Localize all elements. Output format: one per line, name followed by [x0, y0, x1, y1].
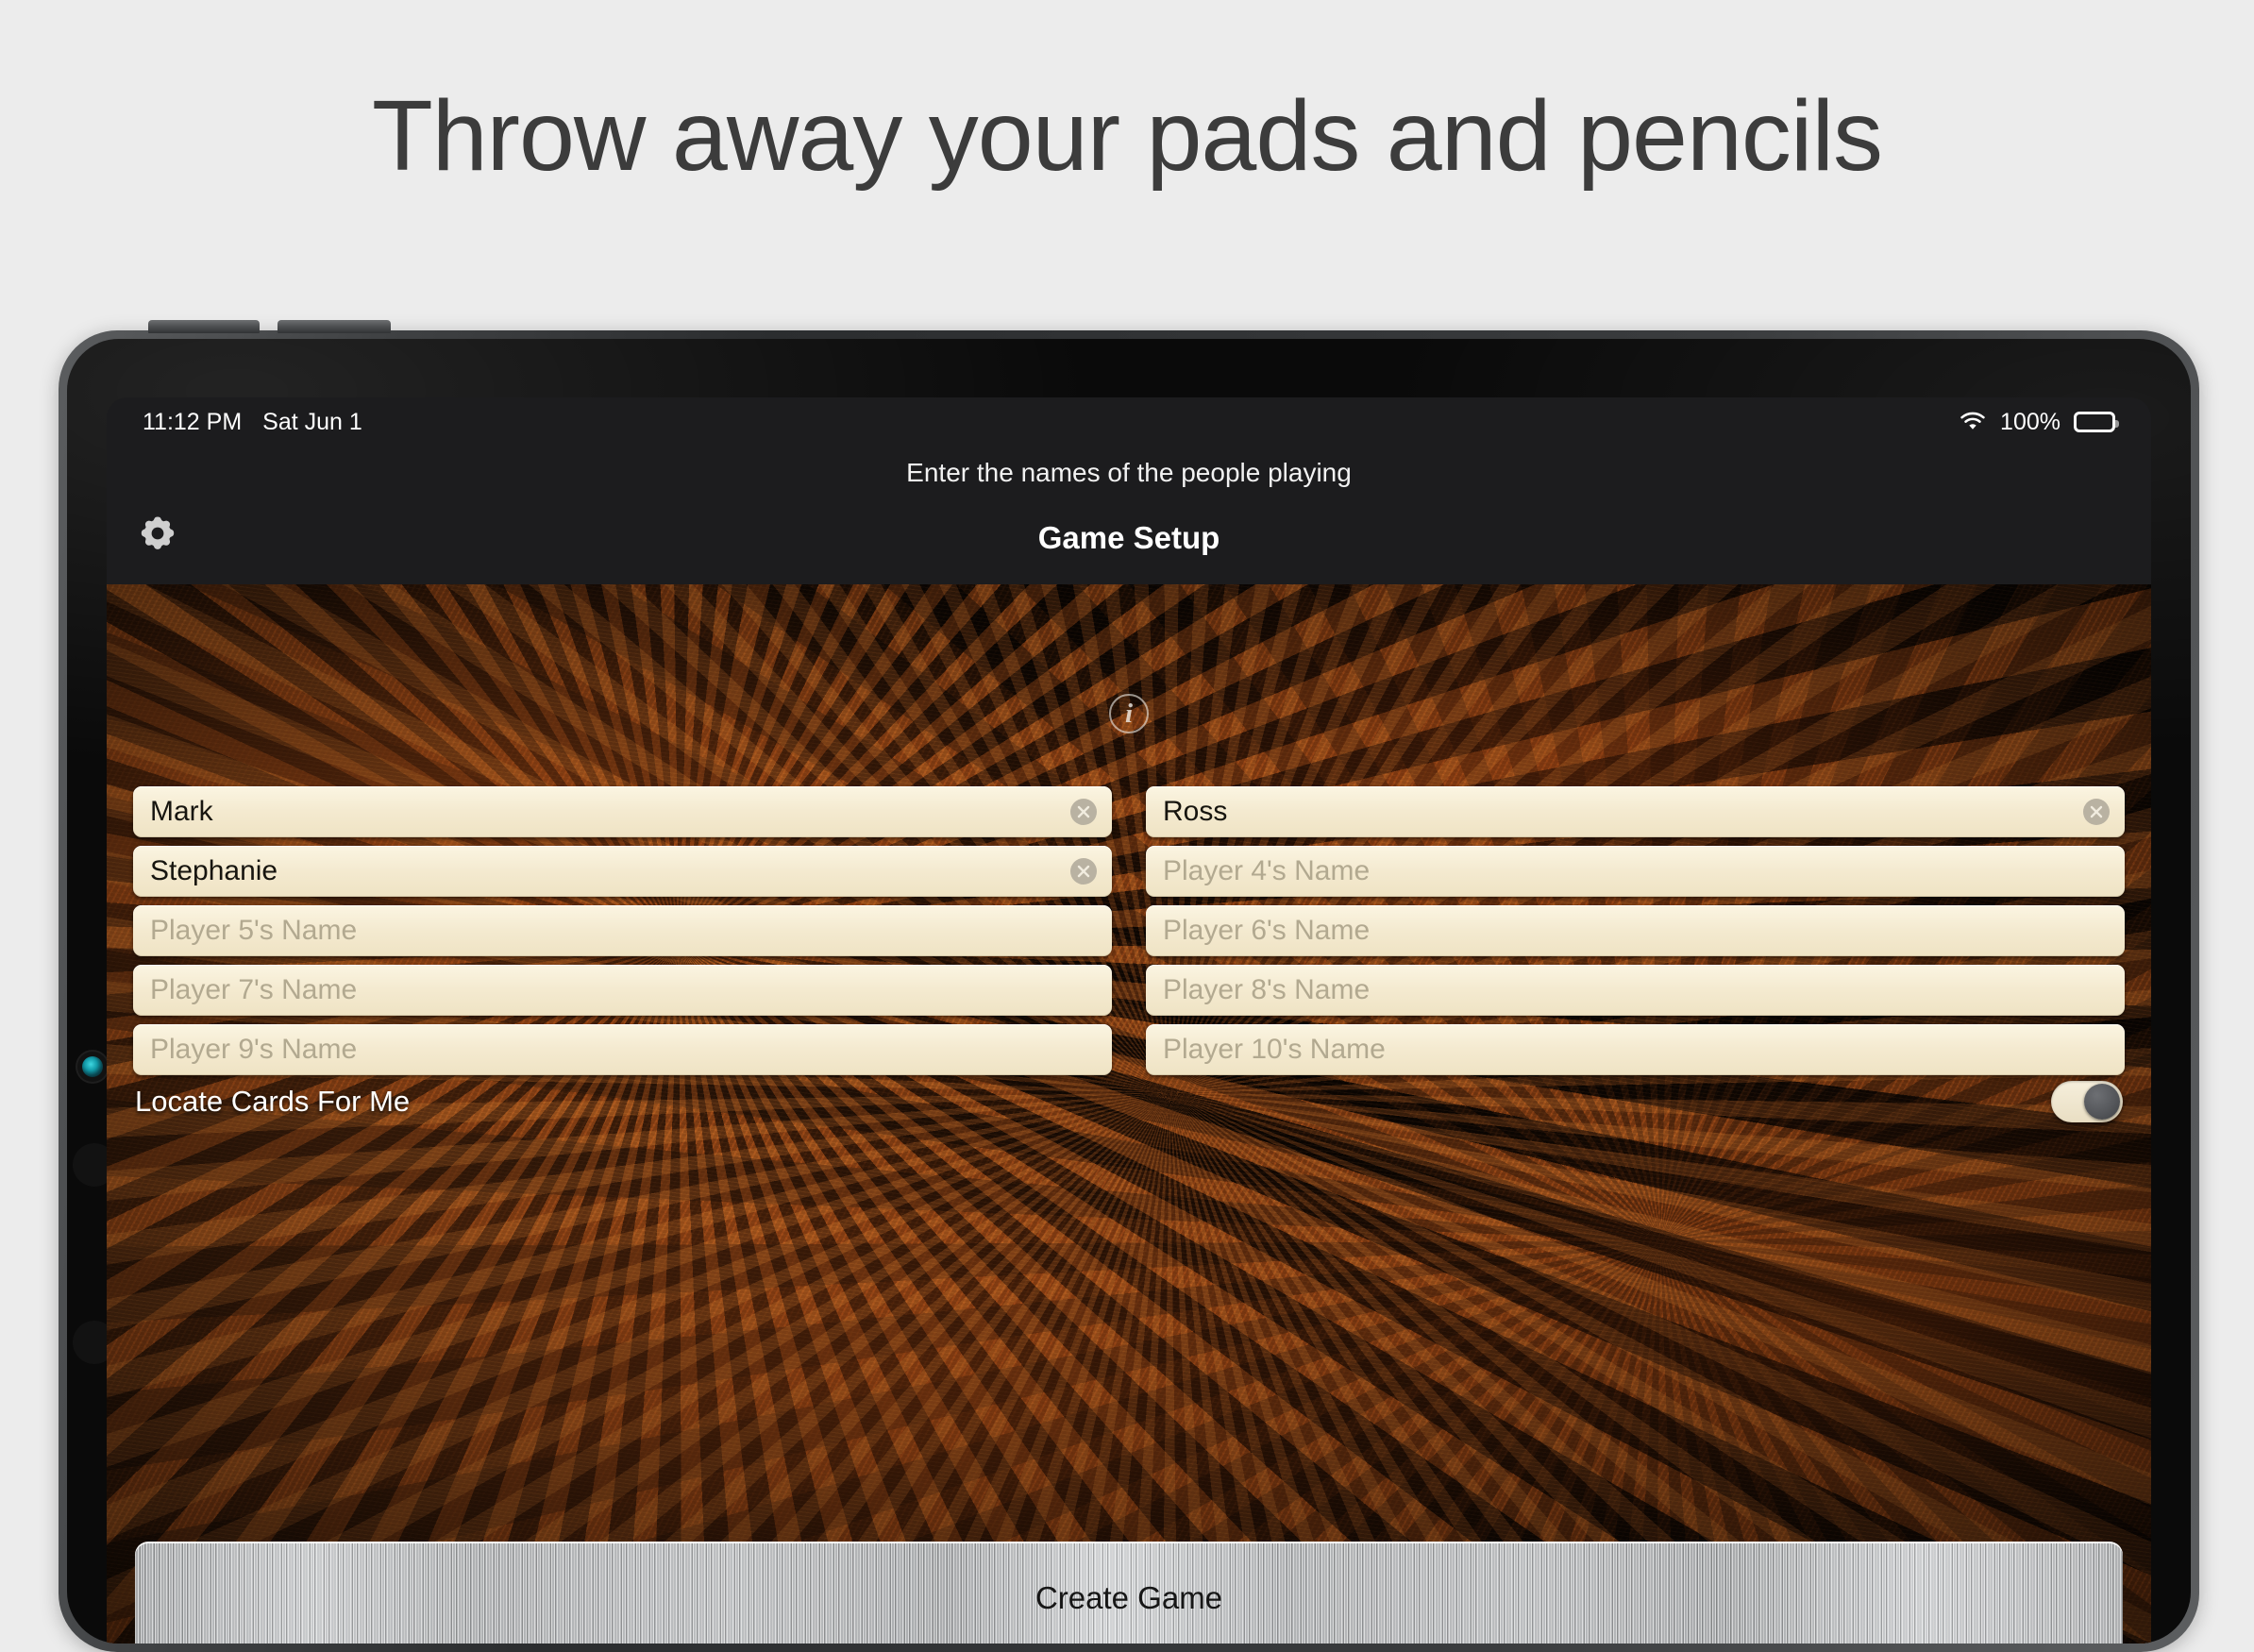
- status-time: 11:12 PM: [143, 409, 242, 436]
- game-setup-content: i: [107, 584, 2151, 1644]
- info-icon[interactable]: i: [1109, 694, 1149, 733]
- status-bar-left: 11:12 PM Sat Jun 1: [143, 409, 362, 436]
- nav-title: Game Setup: [107, 520, 2151, 556]
- status-date: Sat Jun 1: [262, 409, 362, 436]
- gear-icon[interactable]: [135, 511, 180, 556]
- player-8-name-input[interactable]: [1146, 965, 2125, 1016]
- player-field-3-wrap: [133, 846, 1112, 897]
- nav-bar: Enter the names of the people playing Ga…: [107, 447, 2151, 584]
- player-2-name-input[interactable]: [1146, 786, 2125, 837]
- player-5-name-input[interactable]: [133, 905, 1112, 956]
- volume-up-button[interactable]: [148, 320, 260, 333]
- player-3-name-input[interactable]: [133, 846, 1112, 897]
- player-7-name-input[interactable]: [133, 965, 1112, 1016]
- player-4-name-input[interactable]: [1146, 846, 2125, 897]
- ipad-screen: 11:12 PM Sat Jun 1 100%: [107, 397, 2151, 1644]
- create-game-button[interactable]: Create Game: [135, 1542, 2123, 1644]
- ipad-device: 11:12 PM Sat Jun 1 100%: [59, 330, 2199, 1652]
- player-10-name-input[interactable]: [1146, 1024, 2125, 1075]
- player-field-4-wrap: [1146, 846, 2125, 897]
- player-field-10-wrap: [1146, 1024, 2125, 1075]
- locate-cards-label: Locate Cards For Me: [135, 1085, 410, 1119]
- player-field-7-wrap: [133, 965, 1112, 1016]
- front-camera-icon: [82, 1056, 103, 1077]
- clear-icon[interactable]: [1070, 858, 1097, 885]
- battery-icon: [2074, 412, 2115, 432]
- player-9-name-input[interactable]: [133, 1024, 1112, 1075]
- player-field-2-wrap: [1146, 786, 2125, 837]
- player-field-1-wrap: [133, 786, 1112, 837]
- status-bar-right: 100%: [1959, 409, 2115, 436]
- player-6-name-input[interactable]: [1146, 905, 2125, 956]
- locate-cards-toggle[interactable]: [2051, 1081, 2123, 1122]
- volume-down-button[interactable]: [278, 320, 391, 333]
- battery-percent-label: 100%: [2000, 409, 2061, 436]
- device-bezel: 11:12 PM Sat Jun 1 100%: [67, 339, 2191, 1644]
- player-field-8-wrap: [1146, 965, 2125, 1016]
- player-field-6-wrap: [1146, 905, 2125, 956]
- clear-icon[interactable]: [1070, 799, 1097, 825]
- toggle-knob: [2084, 1084, 2120, 1120]
- player-1-name-input[interactable]: [133, 786, 1112, 837]
- player-field-5-wrap: [133, 905, 1112, 956]
- locate-cards-row: Locate Cards For Me: [135, 1081, 2123, 1122]
- status-bar: 11:12 PM Sat Jun 1 100%: [107, 397, 2151, 447]
- clear-icon[interactable]: [2083, 799, 2110, 825]
- page-title: Throw away your pads and pencils: [0, 79, 2254, 194]
- player-name-fields: [133, 786, 2125, 1075]
- nav-prompt: Enter the names of the people playing: [107, 458, 2151, 488]
- player-field-9-wrap: [133, 1024, 1112, 1075]
- wifi-icon: [1959, 412, 1987, 432]
